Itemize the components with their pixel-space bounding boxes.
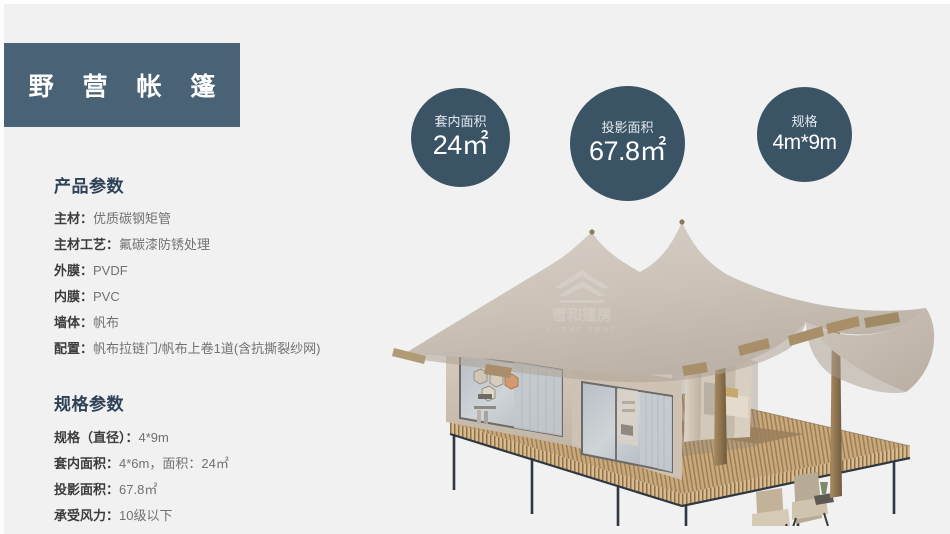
badge-value: 67.8㎡ [589, 137, 666, 165]
badge-interior-area: 套内面积 24㎡ [411, 88, 510, 187]
interior-through-glass [618, 388, 638, 446]
shelf [474, 406, 496, 409]
canopy-peak-tip [679, 219, 684, 224]
badge-dimensions: 规格 4m*9m [757, 87, 852, 182]
spec-label: 主材工艺： [54, 237, 119, 252]
badge-label: 投影面积 [601, 121, 653, 135]
top-edge-margin [0, 0, 950, 4]
bottle [477, 410, 481, 424]
spec-value: 帆布 [93, 315, 119, 330]
spec-row: 承受风力：10级以下 [54, 503, 384, 529]
bottle [484, 411, 488, 424]
spec-label: 规格（直径）： [54, 430, 139, 445]
spec-label: 内膜： [54, 289, 93, 304]
badge-value: 24㎡ [433, 131, 489, 159]
spec-row: 投影面积：67.8㎡ [54, 477, 384, 503]
page-title: 野 营 帐 篷 [18, 67, 227, 103]
spec-value: PVDF [93, 263, 128, 278]
spec-label: 主材： [54, 211, 93, 226]
spec-label: 墙体： [54, 315, 93, 330]
section-heading-specs: 规格参数 [54, 390, 384, 415]
spec-label: 投影面积： [54, 482, 119, 497]
badge-projected-area: 投影面积 67.8㎡ [570, 86, 685, 201]
tent-render-figure: 雪和篷房 XUEHE TENT [386, 196, 946, 526]
spec-value: 帆布拉链门/帆布上卷1道(含抗撕裂纱网) [93, 341, 321, 356]
spec-label: 承受风力： [54, 508, 119, 523]
spec-label: 套内面积： [54, 456, 119, 471]
title-banner: 野 营 帐 篷 [4, 43, 240, 127]
spec-row: 配置：帆布拉链门/帆布上卷1道(含抗撕裂纱网) [54, 336, 384, 362]
spec-row: 内膜：PVC [54, 284, 384, 310]
wall-object [478, 394, 492, 399]
curtain-right [640, 392, 672, 472]
spec-value: 4*9m [139, 430, 169, 445]
section-heading-product: 产品参数 [54, 172, 384, 197]
product-spec-page: 野 营 帐 篷 产品参数 主材：优质碳钢矩管 主材工艺：氟碳漆防锈处理 外膜：P… [0, 0, 950, 534]
spec-label: 外膜： [54, 263, 93, 278]
plant [820, 482, 828, 494]
badge-label: 规格 [791, 115, 817, 129]
badge-value: 4m*9m [772, 132, 836, 154]
spec-value: 67.8㎡ [119, 482, 157, 497]
spec-value: 10级以下 [119, 508, 172, 523]
spec-row: 墙体：帆布 [54, 310, 384, 336]
spec-value: 优质碳钢矩管 [93, 211, 171, 226]
spec-value: PVC [93, 289, 120, 304]
interior-shelf [622, 409, 635, 412]
spec-row: 外膜：PVDF [54, 258, 384, 284]
badge-label: 套内面积 [434, 115, 486, 129]
canopy-peak-tip [589, 229, 594, 234]
spec-value: 4*6m，面积：24㎡ [119, 456, 229, 471]
spec-value: 氟碳漆防锈处理 [119, 237, 210, 252]
interior-fixture [621, 424, 633, 436]
watermark-cn: 雪和篷房 [552, 306, 612, 324]
spec-panel: 产品参数 主材：优质碳钢矩管 主材工艺：氟碳漆防锈处理 外膜：PVDF 内膜：P… [54, 172, 384, 533]
watermark-en: XUEHE TENT [546, 325, 617, 334]
section-product-params: 产品参数 主材：优质碳钢矩管 主材工艺：氟碳漆防锈处理 外膜：PVDF 内膜：P… [54, 172, 384, 362]
spec-row: 套内面积：4*6m，面积：24㎡ [54, 451, 384, 477]
interior-shelf [622, 401, 635, 404]
spec-row: 规格（直径）：4*9m [54, 425, 384, 451]
spec-row: 主材：优质碳钢矩管 [54, 206, 384, 232]
spec-row: 主材工艺：氟碳漆防锈处理 [54, 232, 384, 258]
section-size-params: 规格参数 规格（直径）：4*9m 套内面积：4*6m，面积：24㎡ 投影面积：6… [54, 390, 384, 529]
spec-label: 配置： [54, 341, 93, 356]
